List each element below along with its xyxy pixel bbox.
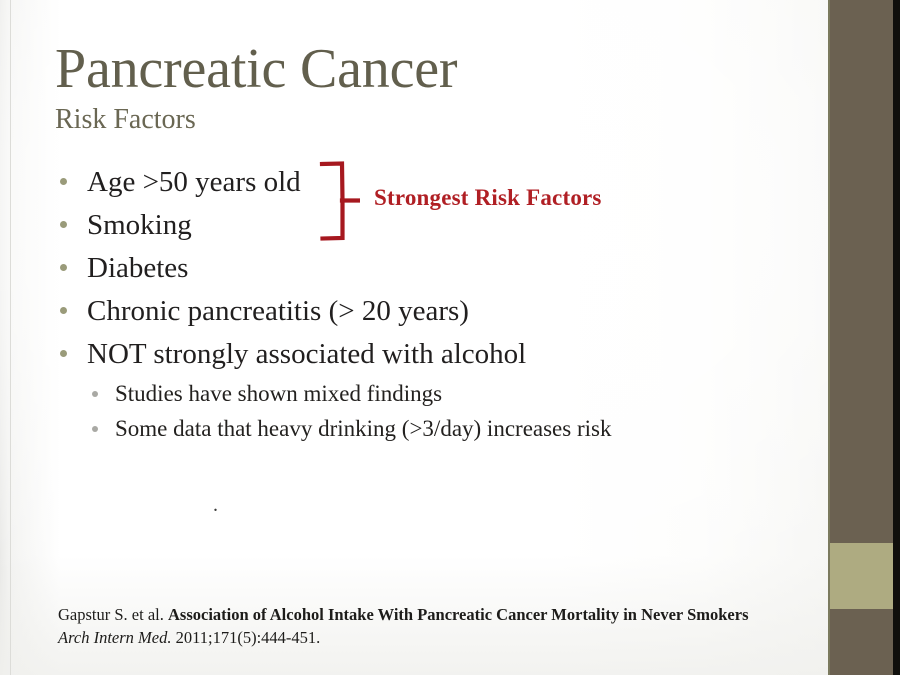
citation-details: 2011;171(5):444-451. (176, 628, 321, 647)
stray-period-mark: . (213, 495, 218, 515)
slide-canvas: Pancreatic Cancer Risk Factors Age >50 y… (0, 0, 900, 675)
slide-subtitle: Risk Factors (55, 103, 196, 137)
bullet-text: Diabetes (87, 249, 188, 287)
bullet-text: NOT strongly associated with alcohol (87, 335, 526, 373)
bullet-dot-icon (60, 178, 67, 185)
list-item: Studies have shown mixed findings (92, 378, 792, 413)
sub-bullet-text: Studies have shown mixed findings (115, 378, 442, 409)
bullet-text: Chronic pancreatitis (> 20 years) (87, 292, 469, 330)
bullet-dot-icon (60, 221, 67, 228)
right-edge-strip (893, 0, 900, 675)
sub-bullet-list: Studies have shown mixed findings Some d… (92, 378, 792, 448)
citation-journal: Arch Intern Med. (58, 628, 171, 647)
sub-bullet-dot-icon (92, 426, 98, 432)
bullet-text: Age >50 years old (87, 163, 301, 201)
list-item: Smoking (60, 206, 760, 249)
list-item: Diabetes (60, 249, 760, 292)
list-item: Some data that heavy drinking (>3/day) i… (92, 413, 792, 448)
citation-authors: Gapstur S. et al. (58, 605, 164, 624)
sub-bullet-text: Some data that heavy drinking (>3/day) i… (115, 413, 611, 444)
citation-footer: Gapstur S. et al. Association of Alcohol… (58, 603, 778, 649)
sub-bullet-dot-icon (92, 391, 98, 397)
bullet-text: Smoking (87, 206, 192, 244)
sidebar-accent-block (830, 543, 893, 609)
curly-brace-icon (318, 155, 360, 247)
left-margin-rule (10, 0, 11, 675)
list-item: NOT strongly associated with alcohol (60, 335, 760, 378)
annotation-label: Strongest Risk Factors (374, 185, 602, 211)
list-item: Chronic pancreatitis (> 20 years) (60, 292, 760, 335)
bullet-dot-icon (60, 307, 67, 314)
slide-title: Pancreatic Cancer (55, 38, 457, 100)
bullet-dot-icon (60, 350, 67, 357)
citation-article-title: Association of Alcohol Intake With Pancr… (168, 605, 749, 624)
bullet-dot-icon (60, 264, 67, 271)
